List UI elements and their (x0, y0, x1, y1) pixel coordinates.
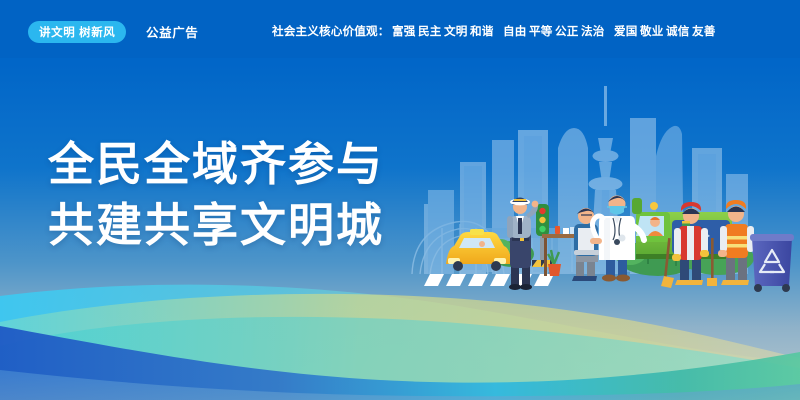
header-bar: 讲文明 树新风 公益广告 社会主义核心价值观：富强民主文明和谐自由平等公正法治爱… (0, 0, 800, 58)
core-value-word: 敬业 (640, 25, 664, 38)
public-service-poster: 讲文明 树新风 公益广告 社会主义核心价值观：富强民主文明和谐自由平等公正法治爱… (0, 0, 800, 400)
recycling-bin (750, 234, 794, 292)
core-value-word: 民主 (418, 25, 442, 38)
core-value-word: 富强 (392, 25, 416, 38)
title-line-1: 全民全域齐参与 (48, 134, 384, 195)
title-line-2: 共建共享文明城 (48, 195, 384, 256)
crosswalk (424, 274, 554, 286)
core-values-group-national: 富强民主文明和谐 (392, 25, 496, 38)
core-value-word: 文明 (444, 25, 468, 38)
core-value-word: 和谐 (470, 25, 494, 38)
core-value-word: 自由 (503, 25, 527, 38)
core-values-groups: 富强民主文明和谐自由平等公正法治爱国敬业诚信友善 (392, 25, 725, 38)
campaign-badge: 讲文明 树新风 (28, 21, 126, 43)
illustration-scene (408, 78, 800, 303)
core-value-word: 爱国 (614, 25, 638, 38)
core-value-word: 友善 (692, 25, 716, 38)
core-values-prefix: 社会主义核心价值观： (272, 25, 389, 38)
core-values-line: 社会主义核心价值观：富强民主文明和谐自由平等公正法治爱国敬业诚信友善 (272, 23, 725, 39)
public-ad-label: 公益广告 (146, 22, 198, 41)
page-title: 全民全域齐参与 共建共享文明城 (48, 134, 384, 256)
core-value-word: 平等 (529, 25, 553, 38)
core-values-group-social: 自由平等公正法治 (503, 25, 607, 38)
core-value-word: 公正 (555, 25, 579, 38)
core-value-word: 诚信 (666, 25, 690, 38)
core-value-word: 法治 (581, 25, 605, 38)
core-values-group-personal: 爱国敬业诚信友善 (614, 25, 718, 38)
